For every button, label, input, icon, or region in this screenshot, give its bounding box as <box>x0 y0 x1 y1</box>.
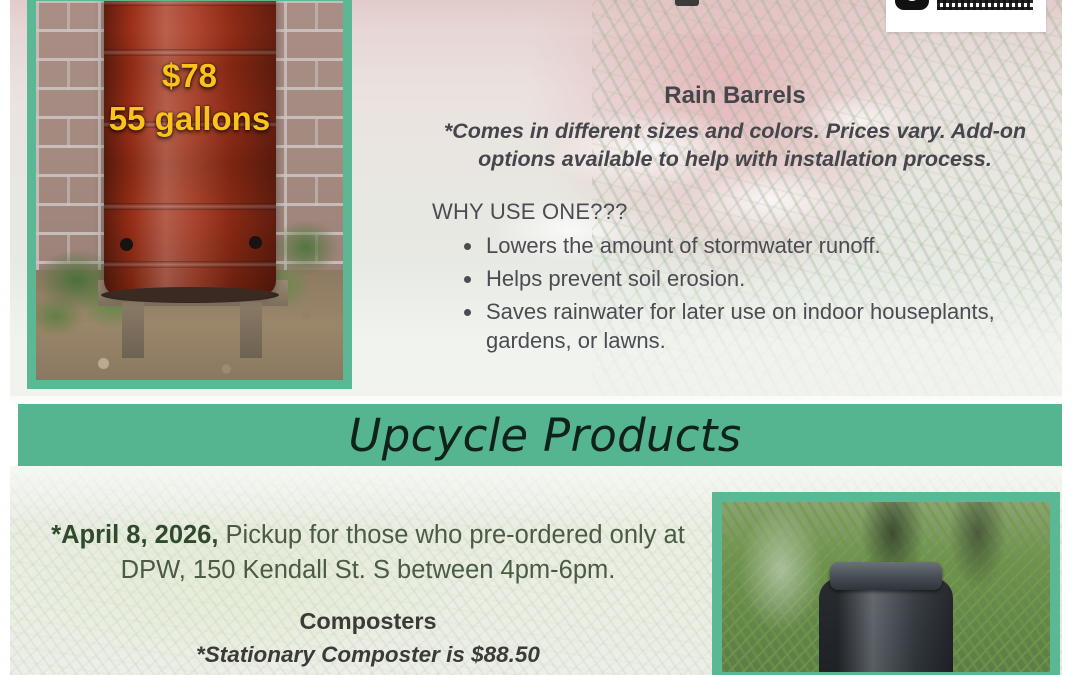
instagram-icon <box>895 0 929 10</box>
composter-photo-inner <box>722 502 1050 672</box>
barrel-fitting-right <box>249 236 262 249</box>
why-use-one-heading: WHY USE ONE??? <box>432 199 1040 225</box>
rain-barrel-photo: $78 55 gallons <box>27 0 352 389</box>
list-item: Lowers the amount of stormwater runoff. <box>464 231 1040 260</box>
banner-title: Upcycle Products <box>349 409 742 462</box>
composter-photo <box>712 492 1060 675</box>
list-item: Helps prevent soil erosion. <box>464 264 1040 293</box>
barrel-capacity: 55 gallons <box>36 100 343 139</box>
rain-barrels-section: Rain Barrels *Comes in different sizes a… <box>430 82 1040 359</box>
composters-title: Composters <box>34 608 702 635</box>
rain-barrels-note: *Comes in different sizes and colors. Pr… <box>430 118 1040 173</box>
barrel-base <box>101 287 279 303</box>
qr-code-icon[interactable] <box>937 0 1033 10</box>
barrel-price: $78 <box>36 57 343 96</box>
barrel-price-overlay: $78 55 gallons <box>36 57 343 139</box>
list-item: Saves rainwater for later use on indoor … <box>464 297 1040 355</box>
barrel-rib <box>104 49 276 56</box>
composter-bin <box>819 578 953 672</box>
upcycle-products-banner: Upcycle Products <box>18 404 1062 466</box>
cropped-title-glyph <box>675 0 699 6</box>
red-rain-barrel <box>104 1 276 295</box>
composters-note: *Stationary Composter is $88.50 <box>34 642 702 668</box>
stand-leg-right <box>240 302 262 358</box>
rain-barrels-title: Rain Barrels <box>430 82 1040 110</box>
rain-barrel-benefits-list: Lowers the amount of stormwater runoff. … <box>430 231 1040 355</box>
pickup-date: *April 8, 2026, <box>51 521 218 549</box>
pickup-details: *April 8, 2026, Pickup for those who pre… <box>34 518 702 588</box>
social-qr-badge[interactable] <box>886 0 1046 32</box>
barrel-fitting-left <box>120 238 133 251</box>
flyer-page: $78 55 gallons Rain Barrels *Comes in di… <box>0 0 1080 675</box>
rain-barrel-photo-inner: $78 55 gallons <box>36 1 343 380</box>
composter-lid <box>830 562 942 590</box>
flyer-canvas: $78 55 gallons Rain Barrels *Comes in di… <box>10 0 1062 675</box>
barrel-rib <box>104 261 276 268</box>
stand-leg-left <box>122 302 144 358</box>
barrel-rib <box>104 1 276 6</box>
barrel-rib <box>104 203 276 210</box>
